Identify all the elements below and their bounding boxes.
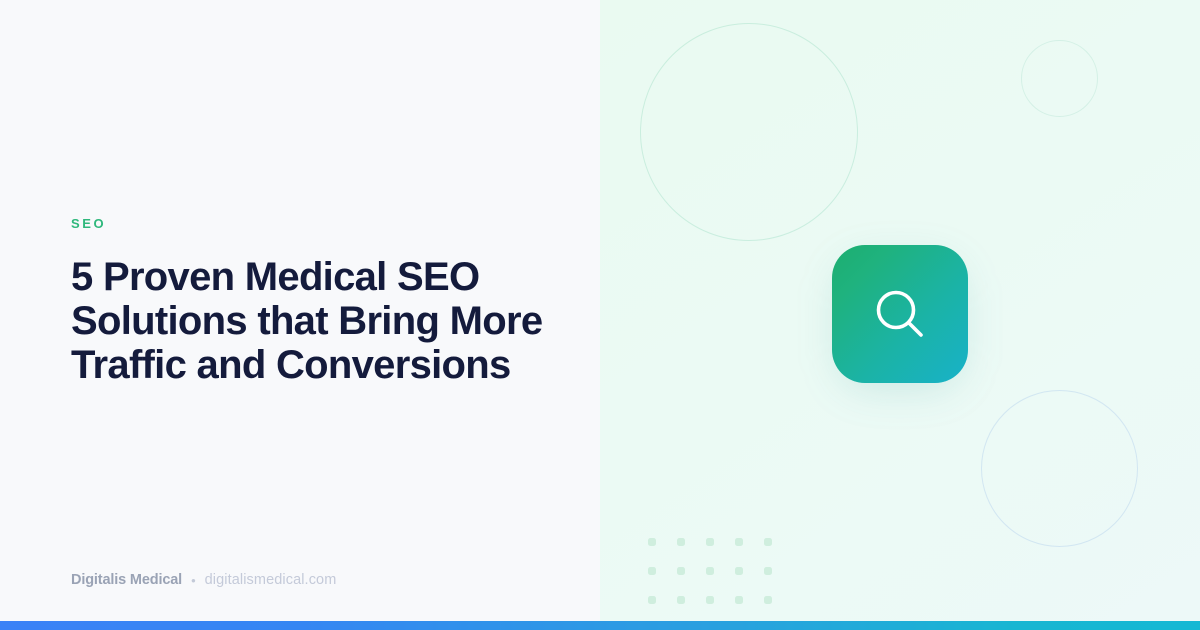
decorative-circle-small bbox=[1021, 40, 1098, 117]
grid-dot bbox=[648, 596, 656, 604]
bullet-separator-icon: • bbox=[191, 574, 196, 587]
page-title: 5 Proven Medical SEO Solutions that Brin… bbox=[71, 255, 571, 388]
grid-dot bbox=[677, 567, 685, 575]
decorative-circle-medium bbox=[981, 390, 1138, 547]
grid-dot bbox=[648, 567, 656, 575]
badge-tile bbox=[832, 245, 968, 383]
search-icon bbox=[869, 283, 931, 345]
right-visual-panel bbox=[600, 0, 1200, 630]
brand-url: digitalismedical.com bbox=[205, 572, 337, 588]
grid-dot bbox=[764, 596, 772, 604]
grid-dot bbox=[648, 538, 656, 546]
grid-dot bbox=[706, 567, 714, 575]
grid-dot bbox=[677, 538, 685, 546]
brand-name: Digitalis Medical bbox=[71, 572, 182, 588]
grid-dot bbox=[706, 596, 714, 604]
grid-dot bbox=[735, 538, 743, 546]
accent-bar bbox=[0, 621, 1200, 630]
text-block: SEO 5 Proven Medical SEO Solutions that … bbox=[71, 216, 571, 387]
grid-dot bbox=[735, 596, 743, 604]
social-share-card: SEO 5 Proven Medical SEO Solutions that … bbox=[0, 0, 1200, 630]
grid-dot bbox=[735, 567, 743, 575]
feature-badge bbox=[832, 245, 968, 383]
grid-dot bbox=[764, 538, 772, 546]
decorative-dot-grid bbox=[648, 538, 772, 604]
category-eyebrow: SEO bbox=[71, 216, 571, 232]
decorative-circle-large bbox=[640, 23, 858, 241]
brand-footer: Digitalis Medical • digitalismedical.com bbox=[71, 572, 336, 588]
grid-dot bbox=[706, 538, 714, 546]
grid-dot bbox=[764, 567, 772, 575]
grid-dot bbox=[677, 596, 685, 604]
left-content-panel: SEO 5 Proven Medical SEO Solutions that … bbox=[0, 0, 600, 630]
